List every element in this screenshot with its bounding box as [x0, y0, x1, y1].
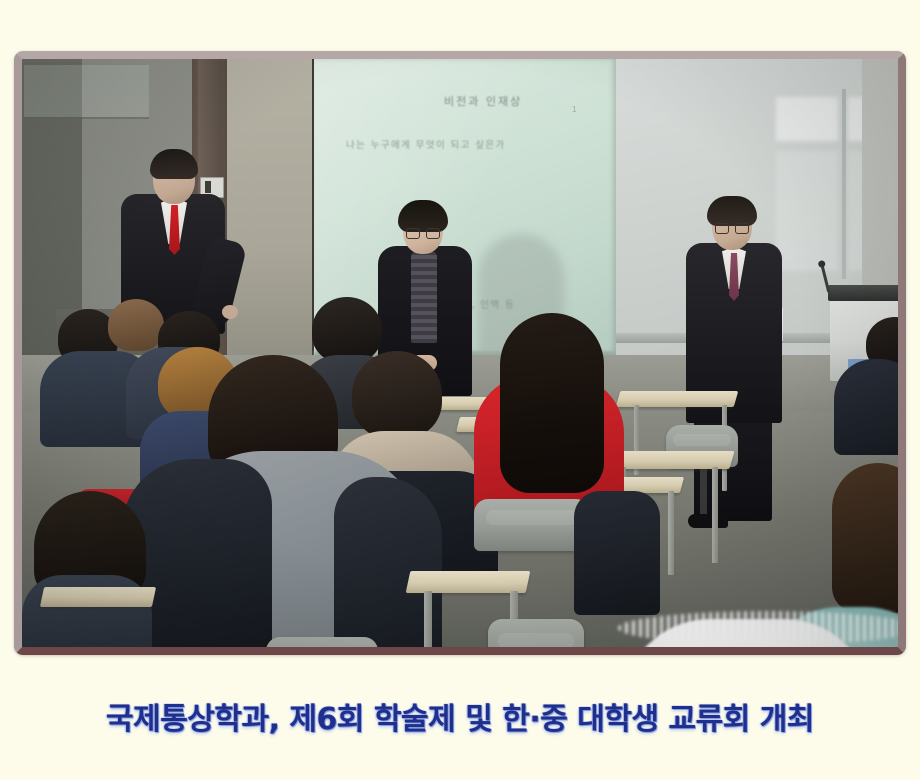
- chair-back: [488, 619, 584, 647]
- classroom-photograph: 비전과 인재상 나는 누구에게 무엇이 되고 싶은가 직업 의식 변화 지식, …: [22, 59, 898, 647]
- audience-head-long-hair: [832, 463, 898, 613]
- speaker-right-hair: [707, 196, 757, 226]
- photo-caption: 국제통상학과, 제6회 학술제 및 한·중 대학생 교류회 개최: [0, 694, 920, 738]
- chair-back: [266, 637, 378, 647]
- desk-leg: [424, 591, 432, 647]
- glasses-icon: [715, 223, 749, 234]
- slide-title: 비전과 인재상: [444, 93, 522, 109]
- photo-card-page: 비전과 인재상 나는 누구에게 무엇이 되고 싶은가 직업 의식 변화 지식, …: [0, 0, 920, 780]
- audience-head: [108, 299, 164, 351]
- audience-coat: [22, 575, 152, 647]
- audience-head: [312, 297, 382, 363]
- desk: [40, 587, 156, 607]
- desk: [406, 571, 531, 593]
- glasses-icon: [406, 228, 440, 239]
- window-reflection: [776, 97, 838, 141]
- desk-leg: [668, 491, 674, 575]
- slide-page-marker: 1: [572, 105, 576, 114]
- audience-coat: [574, 491, 660, 615]
- lectern-top: [828, 285, 898, 301]
- chair-back: [474, 499, 590, 551]
- speaker-left-hair: [150, 149, 198, 179]
- photo-frame: 비전과 인재상 나는 누구에게 무엇이 되고 싶은가 직업 의식 변화 지식, …: [14, 51, 906, 655]
- window-frame-divider: [842, 89, 846, 279]
- audience-coat: [834, 359, 898, 455]
- audience-head: [352, 351, 442, 439]
- speaker-left-hand: [222, 305, 238, 319]
- audience-head-long-hair: [500, 313, 604, 493]
- fur-hood-texture: [618, 611, 898, 645]
- window-reflection: [776, 151, 838, 271]
- slide-line-1: 나는 누구에게 무엇이 되고 싶은가: [346, 137, 506, 151]
- door-glass-panel: [24, 65, 149, 119]
- desk-leg: [712, 467, 718, 563]
- speaker-right-shoe: [688, 514, 728, 528]
- speaker-center-sweater: [411, 251, 437, 343]
